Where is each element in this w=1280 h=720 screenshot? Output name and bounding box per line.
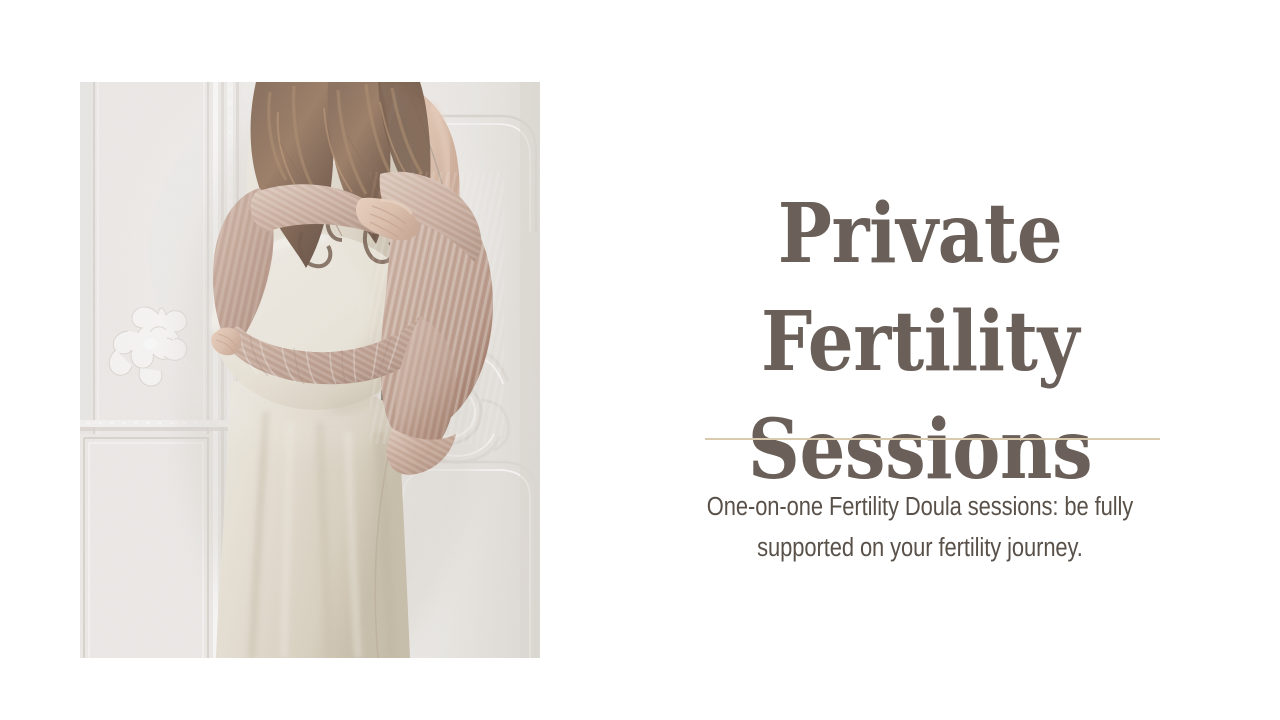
- hero-photo: [80, 82, 540, 658]
- slide-canvas: Private Fertility Sessions One-on-one Fe…: [0, 0, 1280, 720]
- page-title: Private Fertility Sessions: [674, 180, 1167, 505]
- subtitle-text: One-on-one Fertility Doula sessions: be …: [679, 487, 1161, 570]
- title-divider: [705, 438, 1160, 440]
- text-column: Private Fertility Sessions One-on-one Fe…: [640, 0, 1200, 720]
- hero-photo-illustration: [80, 82, 540, 658]
